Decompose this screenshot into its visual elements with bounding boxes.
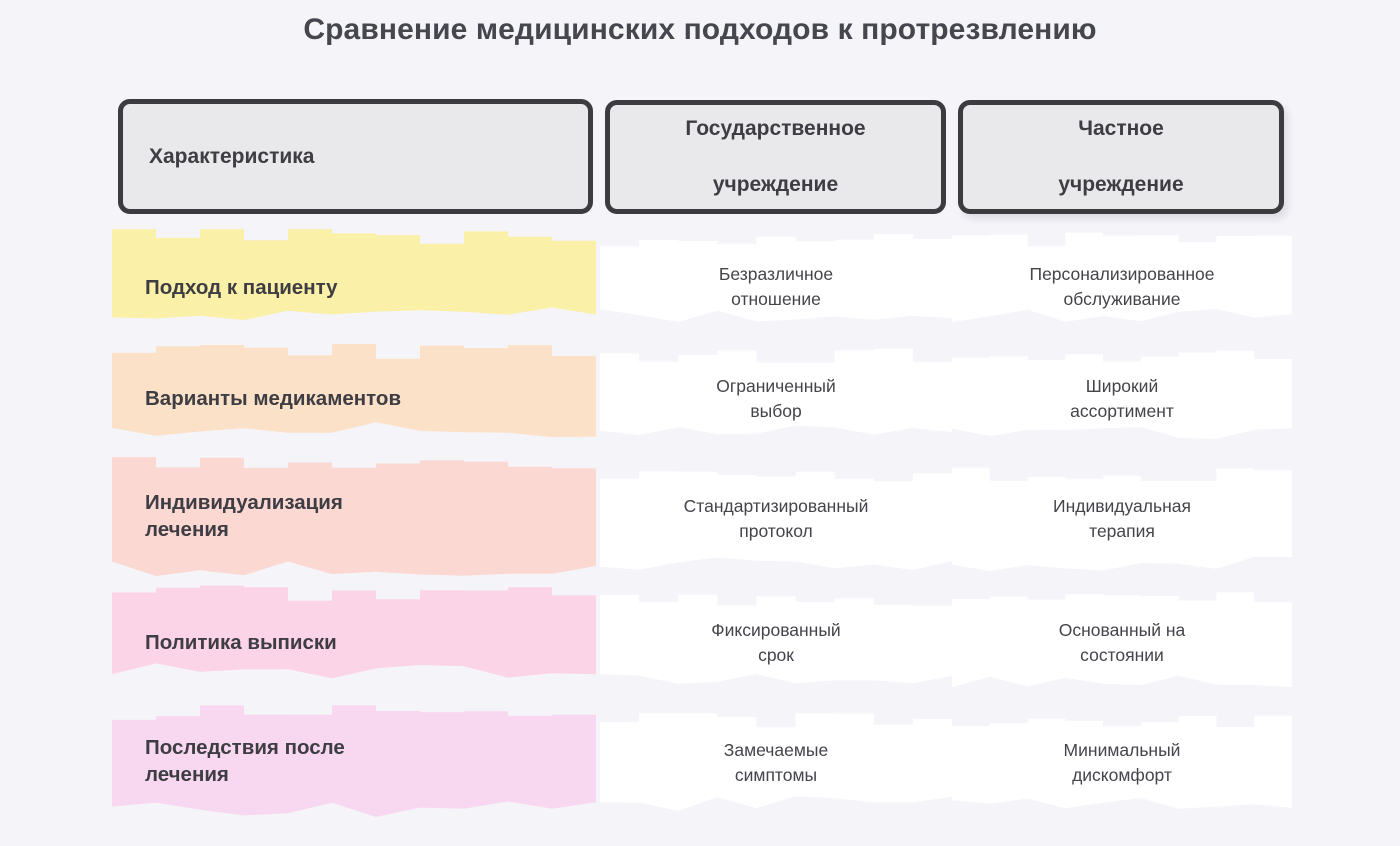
cell-line2: терапия — [1089, 521, 1155, 541]
cell-private: Индивидуальнаятерапия — [952, 494, 1292, 544]
cell-government: Фиксированныйсрок — [600, 618, 952, 668]
column-header-feature: Характеристика — [118, 99, 593, 214]
cell-line2: состоянии — [1080, 645, 1164, 665]
cell-line1: Индивидуальная — [1053, 496, 1191, 516]
cell-line2: ассортимент — [1070, 401, 1174, 421]
row-label: Подход к пациенту — [145, 274, 575, 301]
cell-line2: срок — [758, 645, 794, 665]
cell-line2: обслуживание — [1064, 289, 1181, 309]
column-header-private-label: Частное учреждение — [977, 115, 1265, 198]
cell-line1: Стандартизированный — [684, 496, 869, 516]
cell-government: Безразличноеотношение — [600, 262, 952, 312]
row-label: Политика выписки — [145, 629, 575, 656]
row-label-line1: Варианты медикаментов — [145, 387, 401, 410]
row-label-line1: Индивидуализация — [145, 491, 343, 514]
cell-line1: Минимальный — [1064, 740, 1181, 760]
row-label-line1: Последствия после — [145, 736, 345, 759]
cell-line2: отношение — [731, 289, 821, 309]
column-header-government-line2: учреждение — [624, 171, 927, 199]
cell-government: Замечаемыесимптомы — [600, 738, 952, 788]
row-label-line2: лечения — [145, 763, 229, 786]
row-label: Индивидуализациялечения — [145, 489, 575, 544]
cell-line1: Ограниченный — [716, 376, 835, 396]
column-header-private-line1: Частное — [977, 115, 1265, 143]
column-header-government-line1: Государственное — [624, 115, 927, 143]
cell-line1: Персонализированное — [1030, 264, 1215, 284]
cell-line2: протокол — [739, 521, 813, 541]
cell-private: Основанный насостоянии — [952, 618, 1292, 668]
cell-line1: Широкий — [1086, 376, 1159, 396]
row-label: Последствия послелечения — [145, 734, 575, 789]
column-header-feature-label: Характеристика — [149, 143, 588, 171]
cell-private: Широкийассортимент — [952, 374, 1292, 424]
row-label: Варианты медикаментов — [145, 385, 575, 412]
cell-line1: Фиксированный — [711, 620, 840, 640]
page-title: Сравнение медицинских подходов к протрез… — [0, 13, 1400, 47]
cell-government: Стандартизированныйпротокол — [600, 494, 952, 544]
cell-line2: выбор — [750, 401, 801, 421]
cell-private: Минимальныйдискомфорт — [952, 738, 1292, 788]
column-header-private-line2: учреждение — [977, 171, 1265, 199]
cell-line1: Основанный на — [1059, 620, 1186, 640]
column-header-private: Частное учреждение — [958, 100, 1284, 214]
cell-private: Персонализированноеобслуживание — [952, 262, 1292, 312]
cell-line1: Безразличное — [719, 264, 833, 284]
row-label-line2: лечения — [145, 518, 229, 541]
comparison-table-page: Сравнение медицинских подходов к протрез… — [0, 0, 1400, 846]
cell-line1: Замечаемые — [724, 740, 828, 760]
cell-line2: симптомы — [735, 765, 817, 785]
cell-government: Ограниченныйвыбор — [600, 374, 952, 424]
row-label-line1: Подход к пациенту — [145, 276, 338, 299]
column-header-government-label: Государственное учреждение — [624, 115, 927, 198]
row-label-line1: Политика выписки — [145, 631, 337, 654]
cell-line2: дискомфорт — [1072, 765, 1172, 785]
column-header-government: Государственное учреждение — [605, 100, 946, 214]
